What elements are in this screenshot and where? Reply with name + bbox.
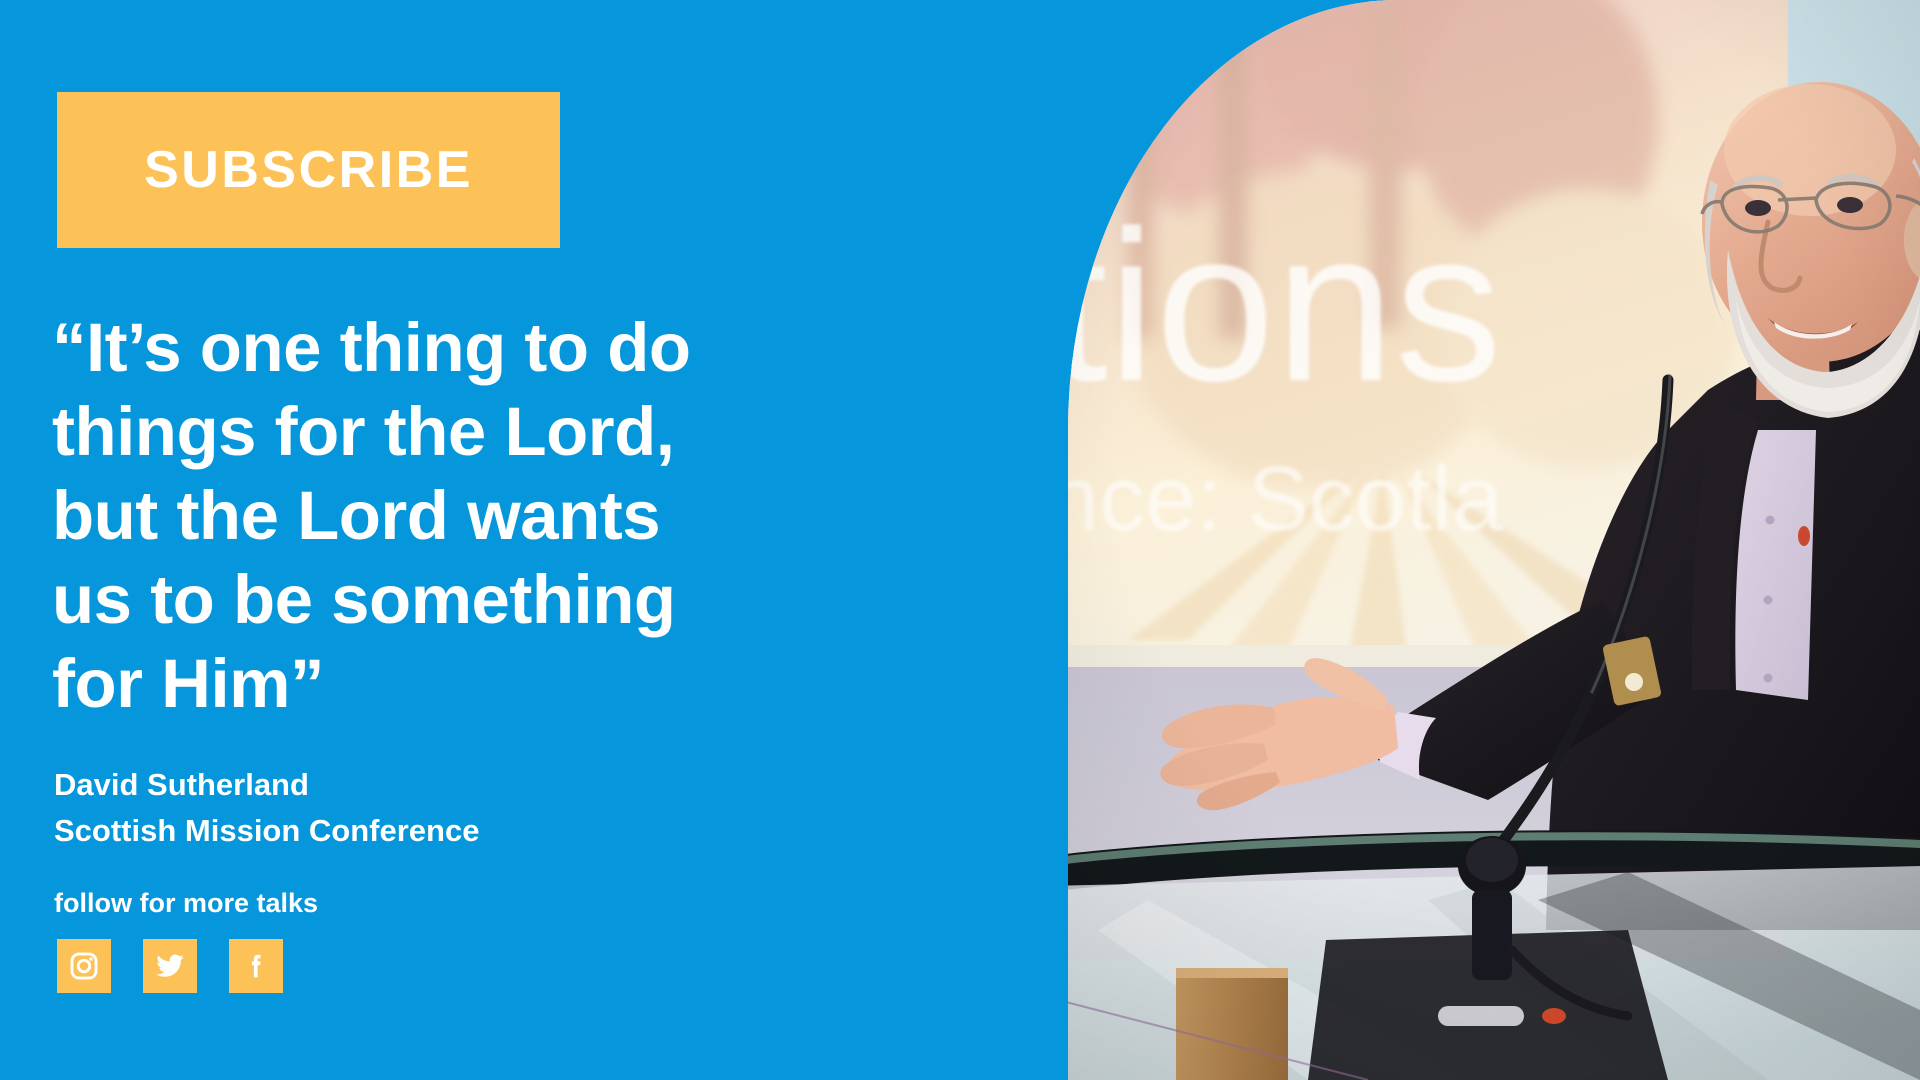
facebook-link[interactable] — [229, 939, 283, 993]
twitter-link[interactable] — [143, 939, 197, 993]
speaker-photo: tions nce: Scotla — [1068, 0, 1920, 1080]
instagram-link[interactable] — [57, 939, 111, 993]
content-panel: SUBSCRIBE “It’s one thing to do things f… — [0, 0, 1068, 1080]
social-links — [57, 939, 283, 993]
quote-graphic-canvas: tions nce: Scotla — [0, 0, 1920, 1080]
event-name: Scottish Mission Conference — [54, 808, 479, 854]
twitter-icon — [155, 951, 185, 981]
attribution: David Sutherland Scottish Mission Confer… — [54, 762, 479, 854]
quote-text: “It’s one thing to do things for the Lor… — [52, 306, 812, 726]
speaker-photo-illustration: tions nce: Scotla — [1068, 0, 1920, 1080]
subscribe-button-label: SUBSCRIBE — [144, 144, 473, 196]
speaker-name: David Sutherland — [54, 762, 479, 808]
follow-prompt: follow for more talks — [54, 888, 318, 919]
facebook-icon — [241, 951, 271, 981]
subscribe-button[interactable]: SUBSCRIBE — [57, 92, 560, 248]
instagram-icon — [69, 951, 99, 981]
